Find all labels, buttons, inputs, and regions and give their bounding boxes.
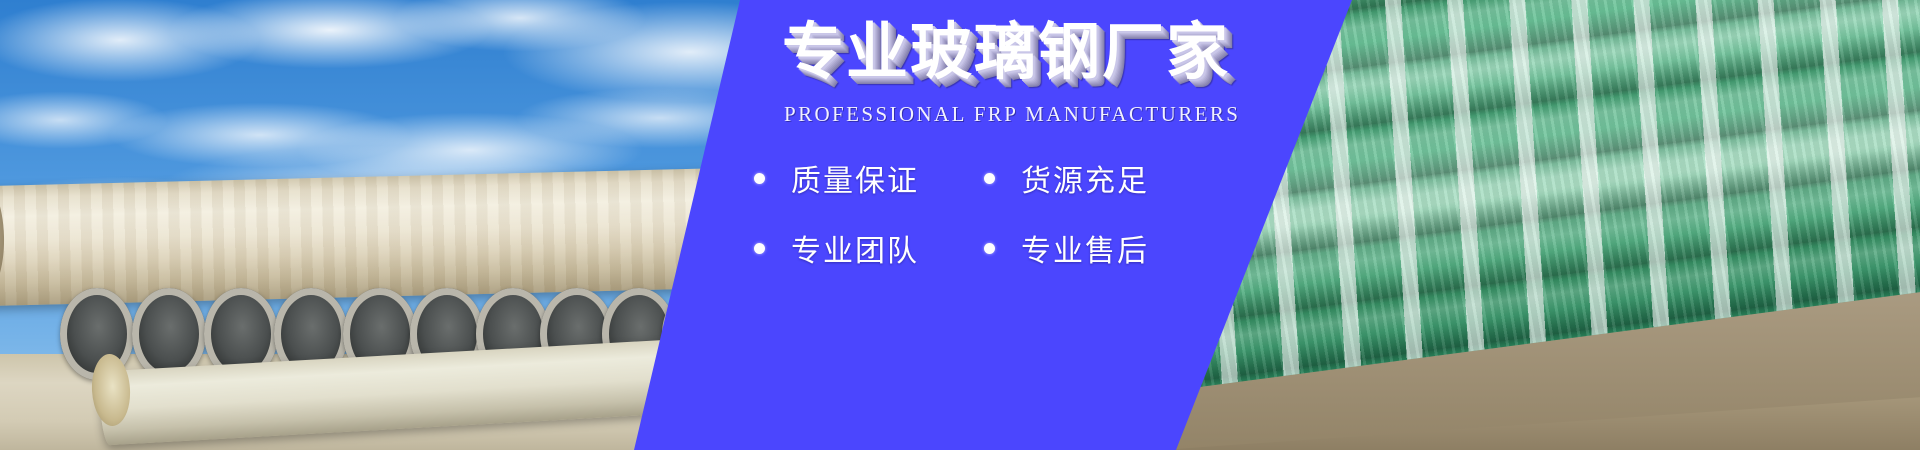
bullet-dot-icon (754, 173, 765, 184)
large-beige-pipe (0, 165, 790, 306)
feature-item-team: 专业团队 (754, 226, 972, 270)
feature-label: 专业团队 (791, 226, 919, 270)
feature-item-supply: 货源充足 (984, 156, 1202, 200)
feature-item-quality: 质量保证 (754, 156, 972, 200)
bullet-dot-icon (984, 173, 995, 184)
feature-label: 质量保证 (791, 156, 919, 200)
bullet-dot-icon (984, 243, 995, 254)
feature-label: 专业售后 (1021, 226, 1149, 270)
page-title: 专业玻璃钢厂家 (782, 22, 1230, 84)
bullet-dot-icon (754, 243, 765, 254)
feature-list: 质量保证 货源充足 专业团队 专业售后 (754, 156, 1334, 270)
panel-content: 专业玻璃钢厂家 PROFESSIONAL FRP MANUFACTURERS 质… (740, 0, 1360, 450)
feature-item-aftersales: 专业售后 (984, 226, 1202, 270)
feature-label: 货源充足 (1021, 156, 1149, 200)
promo-banner: 专业玻璃钢厂家 PROFESSIONAL FRP MANUFACTURERS 质… (0, 0, 1920, 450)
subtitle: PROFESSIONAL FRP MANUFACTURERS (784, 102, 1240, 127)
